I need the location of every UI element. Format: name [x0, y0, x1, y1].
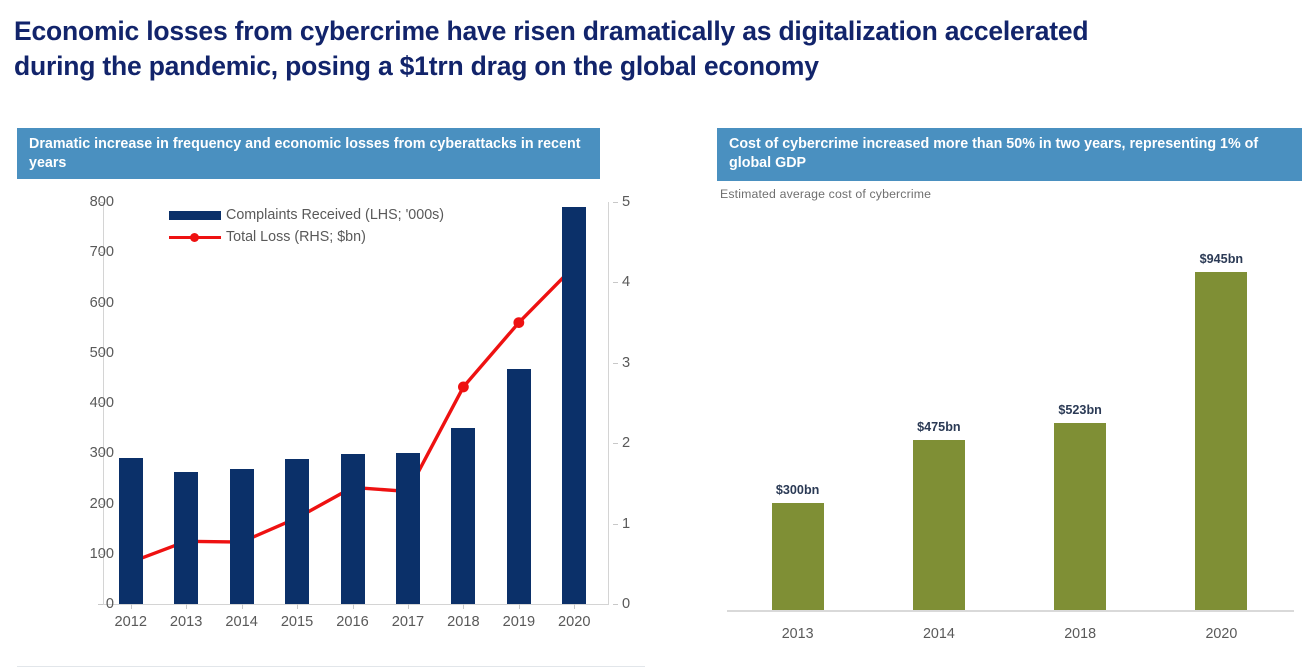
- left-x-tick-label-2017: 2017: [378, 614, 438, 630]
- left-y-tick-label: 400: [68, 395, 114, 411]
- right-plot-area: [727, 216, 1292, 610]
- left-y-tick-mark: [98, 504, 103, 505]
- page-title-line-2: during the pandemic, posing a $1trn drag…: [14, 49, 1304, 84]
- chart-panel-right: Cost of cybercrime increased more than 5…: [717, 128, 1302, 666]
- left-y-tick-mark: [98, 403, 103, 404]
- left-x-tick-mark: [297, 604, 298, 609]
- right-x-tick-label-2020: 2020: [1205, 626, 1237, 642]
- bar-cost-2020: [1195, 272, 1247, 610]
- bar-cost-2013: [772, 503, 824, 610]
- bar-value-label-2013: $300bn: [776, 483, 819, 497]
- left-x-tick-mark: [242, 604, 243, 609]
- right-y-tick-label: 1: [622, 516, 652, 532]
- right-x-tick-label-2018: 2018: [1064, 626, 1096, 642]
- right-y-tick-mark: [613, 202, 618, 203]
- bar-complaints-2019: [507, 369, 531, 604]
- bar-complaints-2012: [119, 458, 143, 604]
- right-y-axis-line: [608, 202, 609, 604]
- left-x-tick-mark: [131, 604, 132, 609]
- right-x-tick-label-2014: 2014: [923, 626, 955, 642]
- cost-of-cybercrime-chart: $300bn2013$475bn2014$523bn2018$945bn2020: [717, 208, 1302, 666]
- right-y-tick-label: 3: [622, 355, 652, 371]
- left-chart-x-axis-line: [103, 604, 609, 605]
- left-x-tick-mark: [186, 604, 187, 609]
- chart-panel-left-header: Dramatic increase in frequency and econo…: [17, 128, 600, 179]
- left-x-tick-label-2013: 2013: [156, 614, 216, 630]
- left-x-tick-label-2019: 2019: [489, 614, 549, 630]
- left-y-tick-mark: [98, 604, 103, 605]
- page-title: Economic losses from cybercrime have ris…: [14, 14, 1304, 84]
- bar-complaints-2015: [285, 459, 309, 604]
- bar-cost-2014: [913, 440, 965, 610]
- left-x-tick-label-2018: 2018: [433, 614, 493, 630]
- left-y-tick-label: 0: [68, 596, 114, 612]
- right-y-tick-label: 4: [622, 274, 652, 290]
- left-x-tick-mark: [519, 604, 520, 609]
- right-x-tick-label-2013: 2013: [782, 626, 814, 642]
- chart-panel-right-header: Cost of cybercrime increased more than 5…: [717, 128, 1302, 181]
- right-chart-x-axis-line: [727, 610, 1294, 612]
- bar-complaints-2013: [174, 472, 198, 604]
- loss-point-2019: [513, 317, 524, 328]
- left-x-tick-label-2016: 2016: [323, 614, 383, 630]
- left-y-tick-mark: [98, 453, 103, 454]
- left-x-tick-mark: [408, 604, 409, 609]
- right-y-tick-mark: [613, 443, 618, 444]
- left-x-tick-mark: [574, 604, 575, 609]
- bar-complaints-2020: [562, 207, 586, 604]
- left-x-tick-label-2014: 2014: [212, 614, 272, 630]
- left-y-tick-label: 500: [68, 345, 114, 361]
- left-y-tick-label: 300: [68, 445, 114, 461]
- right-y-tick-mark: [613, 282, 618, 283]
- left-x-tick-label-2020: 2020: [544, 614, 604, 630]
- bar-complaints-2014: [230, 469, 254, 604]
- bar-complaints-2017: [396, 453, 420, 604]
- chart-panel-left: Dramatic increase in frequency and econo…: [17, 128, 645, 667]
- left-y-tick-mark: [98, 303, 103, 304]
- bar-value-label-2014: $475bn: [917, 420, 960, 434]
- left-y-tick-mark: [98, 353, 103, 354]
- page-title-line-1: Economic losses from cybercrime have ris…: [14, 14, 1304, 49]
- right-y-tick-label: 0: [622, 596, 652, 612]
- left-plot-area: [103, 202, 602, 604]
- left-y-tick-label: 100: [68, 546, 114, 562]
- right-y-tick-label: 5: [622, 194, 652, 210]
- bar-complaints-2018: [451, 428, 475, 604]
- left-x-tick-label-2015: 2015: [267, 614, 327, 630]
- left-x-tick-label-2012: 2012: [101, 614, 161, 630]
- bar-value-label-2018: $523bn: [1058, 403, 1101, 417]
- left-x-tick-mark: [353, 604, 354, 609]
- right-y-tick-mark: [613, 604, 618, 605]
- bar-complaints-2016: [341, 454, 365, 604]
- right-y-tick-mark: [613, 363, 618, 364]
- left-y-tick-mark: [98, 202, 103, 203]
- chart-panel-right-subtitle: Estimated average cost of cybercrime: [717, 181, 1302, 201]
- left-y-tick-mark: [98, 252, 103, 253]
- bar-value-label-2020: $945bn: [1200, 252, 1243, 266]
- right-y-tick-label: 2: [622, 435, 652, 451]
- left-x-tick-mark: [463, 604, 464, 609]
- left-y-tick-label: 800: [68, 194, 114, 210]
- left-y-tick-mark: [98, 554, 103, 555]
- right-y-tick-mark: [613, 524, 618, 525]
- left-y-tick-label: 200: [68, 496, 114, 512]
- loss-point-2018: [458, 382, 469, 393]
- complaints-and-loss-chart: Complaints Received (LHS; '000s) Total L…: [17, 190, 645, 666]
- bar-cost-2018: [1054, 423, 1106, 610]
- left-y-tick-label: 600: [68, 295, 114, 311]
- left-y-tick-label: 700: [68, 244, 114, 260]
